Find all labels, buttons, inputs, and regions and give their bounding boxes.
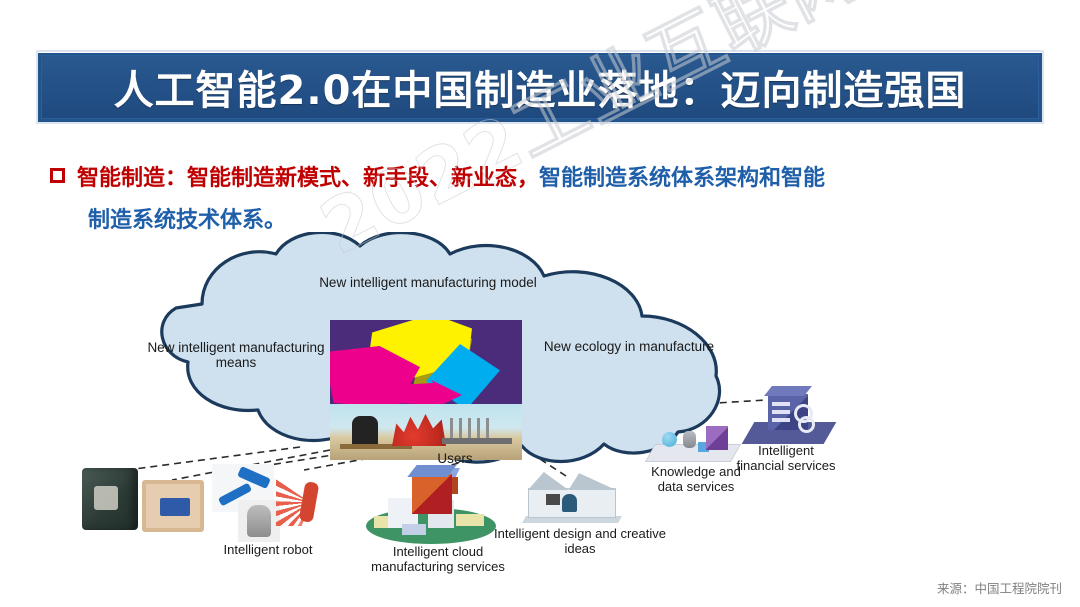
cloud-label-model: New intelligent manufacturing model: [318, 275, 538, 290]
node-label-design: Intelligent design and creative ideas: [490, 526, 670, 556]
humanoid-robot-icon: [238, 500, 280, 542]
building-windows: [772, 402, 790, 424]
source-credit: 来源：中国工程院院刊: [937, 578, 1062, 597]
cloud-label-means: New intelligent manufacturing means: [128, 340, 344, 370]
node-label-finance: Intelligent financial services: [735, 443, 837, 473]
plant-towers: [450, 418, 490, 440]
worker-figure: [352, 416, 378, 446]
yellow-block-right: [456, 514, 484, 526]
red-machinery: [392, 412, 446, 446]
purple-cube: [706, 426, 728, 450]
3d-printer-tan-icon: [142, 480, 204, 532]
conveyor-belt: [442, 438, 512, 444]
house-roof: [528, 472, 616, 490]
monitor-icon: [546, 494, 560, 505]
smart-manufacturing-diagram: New intelligent manufacturing model New …: [0, 232, 1080, 592]
cloud-manufacturing-icon: [366, 474, 496, 544]
page-title: 人工智能2.0在中国制造业落地：迈向制造强国: [114, 58, 967, 116]
cloud-label-users: Users: [400, 451, 510, 466]
bullet-paragraph: 智能制造：智能制造新模式、新手段、新业态，智能制造系统体系架构和智能 制造系统技…: [50, 158, 1030, 242]
manufacturing-photo: [330, 320, 522, 460]
cloud-label-ecology: New ecology in manufacture: [524, 339, 734, 354]
node-label-robot: Intelligent robot: [185, 542, 351, 557]
bullet-blue-text: 智能制造系统体系架构和智能: [539, 166, 825, 191]
slide-canvas: 2022工业互联网大会 人工智能2.0在中国制造业落地：迈向制造强国 智能制造：…: [0, 0, 1080, 607]
grey-cylinder: [683, 431, 696, 448]
blue-sphere: [662, 432, 677, 447]
cmyk-arrows-graphic: [330, 320, 522, 404]
designer-figure: [562, 494, 577, 512]
square-bullet-icon: [50, 168, 65, 183]
slide-title-banner: 人工智能2.0在中国制造业落地：迈向制造强国: [36, 50, 1044, 124]
smart-home-design-icon: [524, 472, 620, 524]
red-robot-arm-icon: [276, 464, 342, 526]
node-label-knowledge: Knowledge and data services: [642, 464, 750, 494]
orange-red-cube: [412, 474, 452, 514]
bullet-red-text: 智能制造：智能制造新模式、新手段、新业态，: [77, 166, 539, 191]
3d-printer-dark-icon: [82, 468, 138, 530]
gear-icon-small: [798, 416, 815, 433]
financial-services-icon: [748, 394, 830, 450]
blue-block: [402, 524, 426, 535]
knowledge-data-icon: [650, 422, 736, 466]
